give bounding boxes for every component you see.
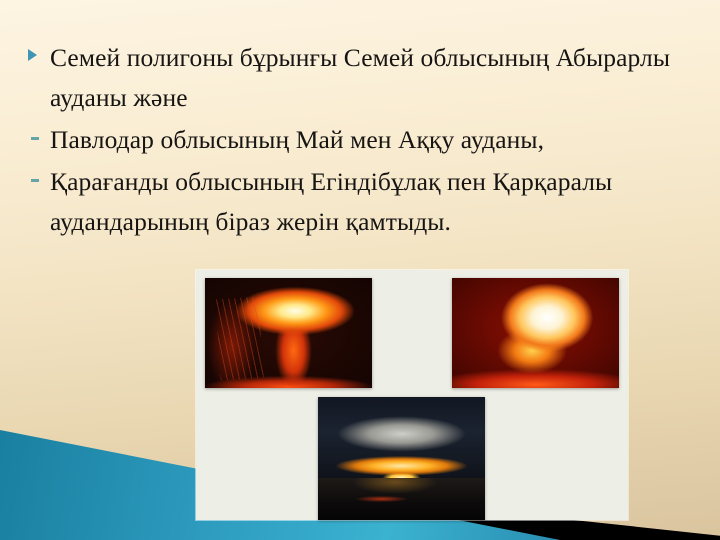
- photo-1-streaks: [216, 296, 265, 380]
- dash-bullet-icon: [26, 120, 50, 140]
- nuclear-explosion-image-1: [205, 278, 372, 388]
- photo-3-water-glow: [348, 495, 415, 502]
- nuclear-explosion-image-2: [452, 278, 619, 388]
- photo-gallery-panel: [196, 270, 628, 520]
- slide-body-text: Семей полигоны бұрынғы Семей облысының А…: [26, 38, 694, 244]
- bullet-item-3-label: Қарағанды облысының Егіндібұлақ пен Қарқ…: [50, 162, 694, 242]
- slide-canvas: Семей полигоны бұрынғы Семей облысының А…: [0, 0, 720, 540]
- dash-bullet-icon: [26, 162, 50, 182]
- bullet-item-2: Павлодар облысының Май мен Аққу ауданы,: [26, 120, 694, 160]
- triangle-bullet-icon: [26, 38, 50, 61]
- nuclear-explosion-image-3: [318, 397, 485, 520]
- bullet-item-1-label: Семей полигоны бұрынғы Семей облысының А…: [50, 38, 694, 118]
- bullet-item-2-label: Павлодар облысының Май мен Аққу ауданы,: [50, 120, 694, 160]
- bullet-item-3: Қарағанды облысының Егіндібұлақ пен Қарқ…: [26, 162, 694, 242]
- bullet-item-1: Семей полигоны бұрынғы Семей облысының А…: [26, 38, 694, 118]
